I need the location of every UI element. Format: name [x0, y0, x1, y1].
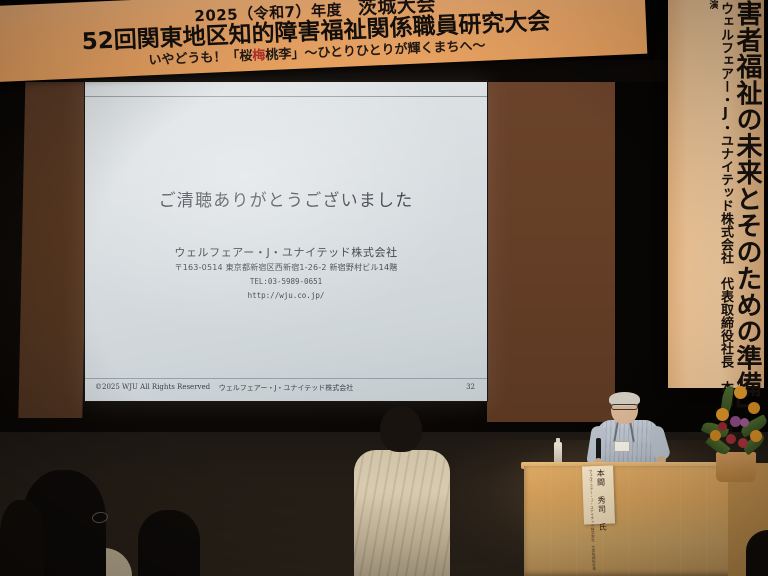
presenter-name-badge — [614, 441, 630, 452]
water-bottle — [554, 442, 562, 464]
flower-vase — [716, 452, 756, 482]
podium — [524, 466, 734, 576]
slide-footer-company: ウェルフェアー・J・ユナイテッド株式会社 — [91, 383, 481, 393]
banner-subtitle-accent: 梅 — [252, 48, 266, 64]
vertical-session-banner: 害者福祉の未来とそのための準備」 ウェルフェアー・J・ユナイテッド株式会社 代表… — [668, 0, 764, 388]
screen-glare — [85, 82, 487, 401]
nameplate-speaker-name: 本間 秀司 氏 — [595, 469, 608, 532]
purple-bloom — [740, 418, 749, 427]
stage-wall-panel-right — [487, 62, 615, 422]
audience-seated-head — [0, 500, 44, 576]
slide-top-rule — [85, 96, 487, 97]
audience-standing-person — [348, 406, 452, 576]
slide-title: ご清聴ありがとうございました — [85, 186, 487, 211]
audience-head — [380, 406, 422, 452]
microphone-icon — [596, 438, 601, 460]
stage-wall-panel-left — [18, 66, 89, 418]
banner-subtitle-prefix: いやどうも！「桜 — [148, 49, 253, 69]
glasses-icon — [611, 404, 638, 410]
vertical-banner-title: 害者福祉の未来とそのための準備」 — [733, 0, 760, 424]
red-bloom — [738, 438, 748, 448]
conference-photo-scene: ご清聴ありがとうございました ウェルフェアー・J・ユナイテッド株式会社 〒163… — [0, 0, 768, 576]
red-bloom — [718, 422, 727, 431]
audience-shirt — [354, 450, 450, 576]
sunflower-bloom — [710, 430, 721, 441]
presenter-figure — [585, 392, 689, 472]
sunflower-bloom — [716, 408, 729, 421]
banner-subtitle-suffix: 桃李」～ひとりひとりが輝くまちへ～ — [265, 39, 486, 64]
slide-page-number: 32 — [466, 383, 475, 391]
slide-telephone: TEL:03-5989-0651 — [85, 277, 487, 286]
sunflower-bloom — [748, 402, 760, 414]
projection-screen: ご清聴ありがとうございました ウェルフェアー・J・ユナイテッド株式会社 〒163… — [85, 82, 487, 401]
sunflower-bloom — [750, 430, 762, 442]
slide-company-name: ウェルフェアー・J・ユナイテッド株式会社 — [85, 244, 487, 260]
vertical-banner-label: 演 — [707, 0, 716, 9]
slide-footer-rule — [85, 378, 487, 379]
slide-footer: ©2025 WJU All Rights Reserved ウェルフェアー・J・… — [91, 382, 481, 396]
podium-nameplate: 本間 秀司 氏 ウェルフェアー・J・ユナイテッド株式会社 代表取締役社長 — [582, 465, 615, 524]
slide-website-url: http://wju.co.jp/ — [85, 291, 487, 300]
audience-shirt-folds — [354, 450, 450, 576]
flower-arrangement — [700, 372, 768, 482]
audience-seated-head — [138, 510, 200, 576]
slide-address: 〒163-0514 東京都新宿区西新宿1-26-2 新宿野村ビル14階 — [85, 262, 487, 273]
sunflower-bloom — [734, 386, 747, 399]
red-bloom — [726, 434, 736, 444]
podium-wood-grain — [524, 466, 734, 576]
